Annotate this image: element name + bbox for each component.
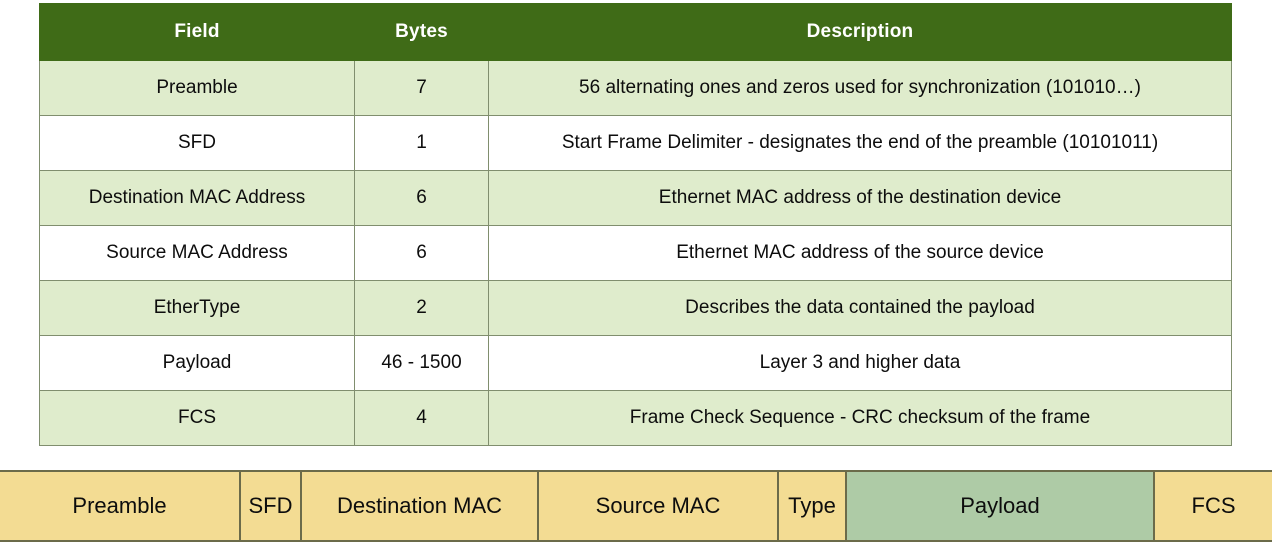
cell-bytes: 46 - 1500 — [355, 336, 489, 391]
cell-field: Source MAC Address — [40, 226, 355, 281]
cell-bytes: 6 — [355, 171, 489, 226]
cell-bytes: 6 — [355, 226, 489, 281]
cell-field: EtherType — [40, 281, 355, 336]
frame-segment: FCS — [1155, 472, 1272, 540]
cell-field: FCS — [40, 391, 355, 446]
table-row: Payload46 - 1500Layer 3 and higher data — [40, 336, 1232, 391]
cell-description: Layer 3 and higher data — [489, 336, 1232, 391]
frame-segment: Type — [779, 472, 847, 540]
frame-segment: SFD — [241, 472, 302, 540]
table-header-row: Field Bytes Description — [40, 4, 1232, 61]
table-row: FCS4Frame Check Sequence - CRC checksum … — [40, 391, 1232, 446]
cell-description: Describes the data contained the payload — [489, 281, 1232, 336]
column-header-description: Description — [489, 4, 1232, 61]
cell-description: Start Frame Delimiter - designates the e… — [489, 116, 1232, 171]
column-header-bytes: Bytes — [355, 4, 489, 61]
ethernet-frame-strip-diagram: PreambleSFDDestination MACSource MACType… — [0, 470, 1272, 542]
cell-description: Frame Check Sequence - CRC checksum of t… — [489, 391, 1232, 446]
table-row: EtherType2Describes the data contained t… — [40, 281, 1232, 336]
cell-bytes: 7 — [355, 61, 489, 116]
cell-bytes: 4 — [355, 391, 489, 446]
cell-description: Ethernet MAC address of the destination … — [489, 171, 1232, 226]
column-header-field: Field — [40, 4, 355, 61]
frame-segment: Destination MAC — [302, 472, 539, 540]
table-body: Preamble756 alternating ones and zeros u… — [40, 61, 1232, 446]
frame-segment: Payload — [847, 472, 1155, 540]
ethernet-field-table: Field Bytes Description Preamble756 alte… — [39, 3, 1232, 446]
table-row: Destination MAC Address6Ethernet MAC add… — [40, 171, 1232, 226]
frame-segment: Preamble — [0, 472, 241, 540]
table-row: SFD1Start Frame Delimiter - designates t… — [40, 116, 1232, 171]
cell-field: Payload — [40, 336, 355, 391]
table-header: Field Bytes Description — [40, 4, 1232, 61]
frame-segment: Source MAC — [539, 472, 779, 540]
cell-description: Ethernet MAC address of the source devic… — [489, 226, 1232, 281]
cell-field: Destination MAC Address — [40, 171, 355, 226]
table-row: Preamble756 alternating ones and zeros u… — [40, 61, 1232, 116]
table-row: Source MAC Address6Ethernet MAC address … — [40, 226, 1232, 281]
cell-bytes: 2 — [355, 281, 489, 336]
cell-field: Preamble — [40, 61, 355, 116]
cell-field: SFD — [40, 116, 355, 171]
cell-bytes: 1 — [355, 116, 489, 171]
cell-description: 56 alternating ones and zeros used for s… — [489, 61, 1232, 116]
